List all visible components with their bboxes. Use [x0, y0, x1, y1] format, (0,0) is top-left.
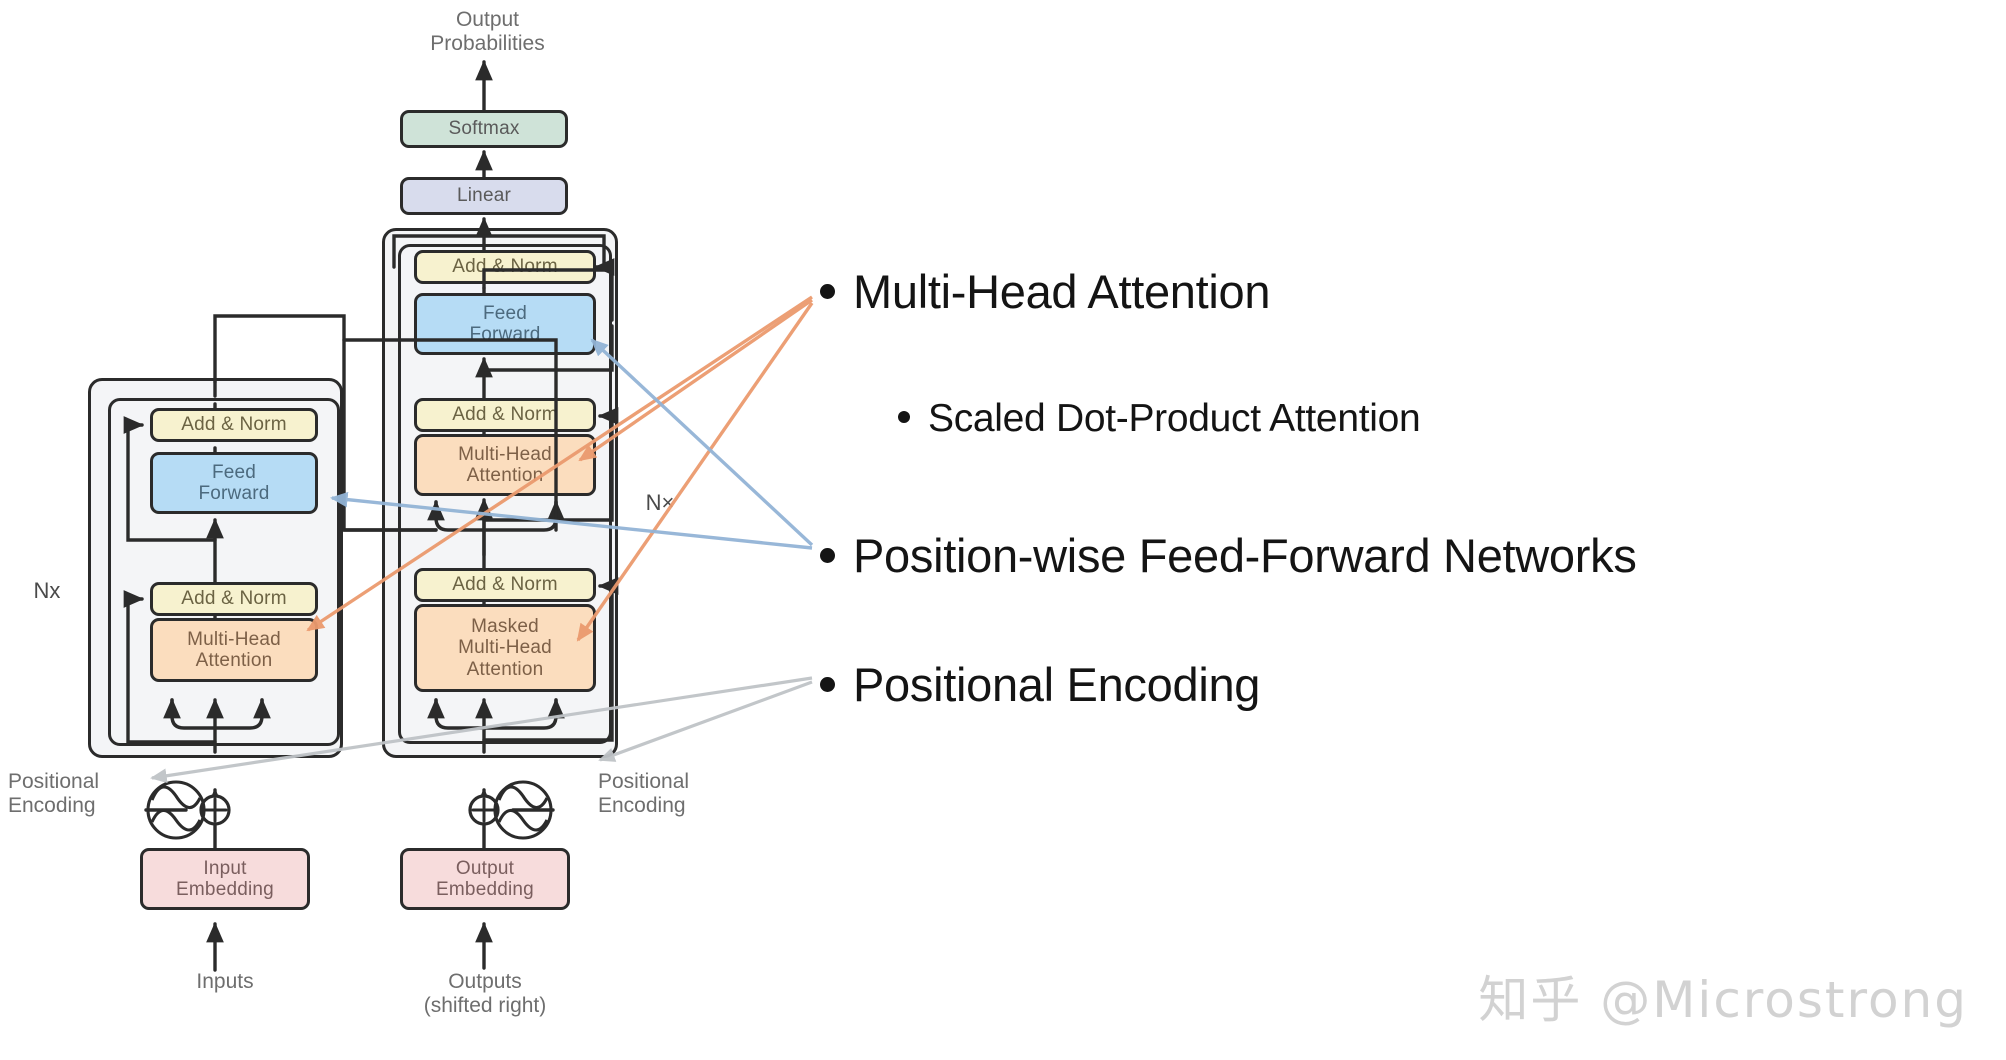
- decoder-feed-forward: Feed Forward: [414, 293, 596, 355]
- bullet-label: Scaled Dot-Product Attention: [928, 397, 1420, 441]
- decoder-repeat-label: N×: [635, 490, 685, 515]
- input-embedding-box: Input Embedding: [140, 848, 310, 910]
- decoder-add-norm-top: Add & Norm: [414, 250, 596, 284]
- bullet-dot-icon: [820, 284, 835, 299]
- output-probabilities-label: Output Probabilities: [400, 8, 575, 56]
- watermark: 知乎 @Microstrong: [1478, 960, 1968, 1032]
- bullet-label: Position-wise Feed-Forward Networks: [853, 528, 1637, 583]
- decoder-positional-encoding-label: Positional Encoding: [598, 770, 748, 818]
- bullet-label: Positional Encoding: [853, 657, 1260, 712]
- encoder-repeat-label: Nx: [22, 578, 72, 603]
- decoder-cross-attention: Multi-Head Attention: [414, 434, 596, 496]
- softmax-box: Softmax: [400, 110, 568, 148]
- bullet-item-multi-head-attention: Multi-Head Attention: [820, 264, 1270, 319]
- decoder-sine-icon: [495, 782, 551, 838]
- inputs-label: Inputs: [140, 970, 310, 994]
- bullet-dot-icon: [820, 548, 835, 563]
- encoder-sublayer-frame: [108, 398, 340, 746]
- bullet-dot-icon: [898, 411, 910, 423]
- bullet-dot-icon: [820, 677, 835, 692]
- bullet-item-position-wise-feed-forward-networks: Position-wise Feed-Forward Networks: [820, 528, 1637, 583]
- decoder-add-norm-bottom: Add & Norm: [414, 568, 596, 602]
- bullet-item-scaled-dot-product-attention: Scaled Dot-Product Attention: [898, 397, 1420, 441]
- encoder-attention: Multi-Head Attention: [150, 618, 318, 682]
- bullet-item-positional-encoding: Positional Encoding: [820, 657, 1260, 712]
- output-embedding-box: Output Embedding: [400, 848, 570, 910]
- decoder-add-norm-mid: Add & Norm: [414, 398, 596, 432]
- encoder-add-symbol: [201, 796, 229, 824]
- outputs-label: Outputs (shifted right): [395, 970, 575, 1018]
- encoder-add-norm-top: Add & Norm: [150, 408, 318, 442]
- encoder-positional-encoding-label: Positional Encoding: [8, 770, 158, 818]
- bullet-label: Multi-Head Attention: [853, 264, 1270, 319]
- slide-canvas: Output Probabilities Softmax Linear Add …: [0, 0, 2006, 1060]
- linear-box: Linear: [400, 177, 568, 215]
- encoder-add-norm-bottom: Add & Norm: [150, 582, 318, 616]
- decoder-masked-attention: Masked Multi-Head Attention: [414, 604, 596, 692]
- decoder-add-symbol: [470, 796, 498, 824]
- encoder-feed-forward: Feed Forward: [150, 452, 318, 514]
